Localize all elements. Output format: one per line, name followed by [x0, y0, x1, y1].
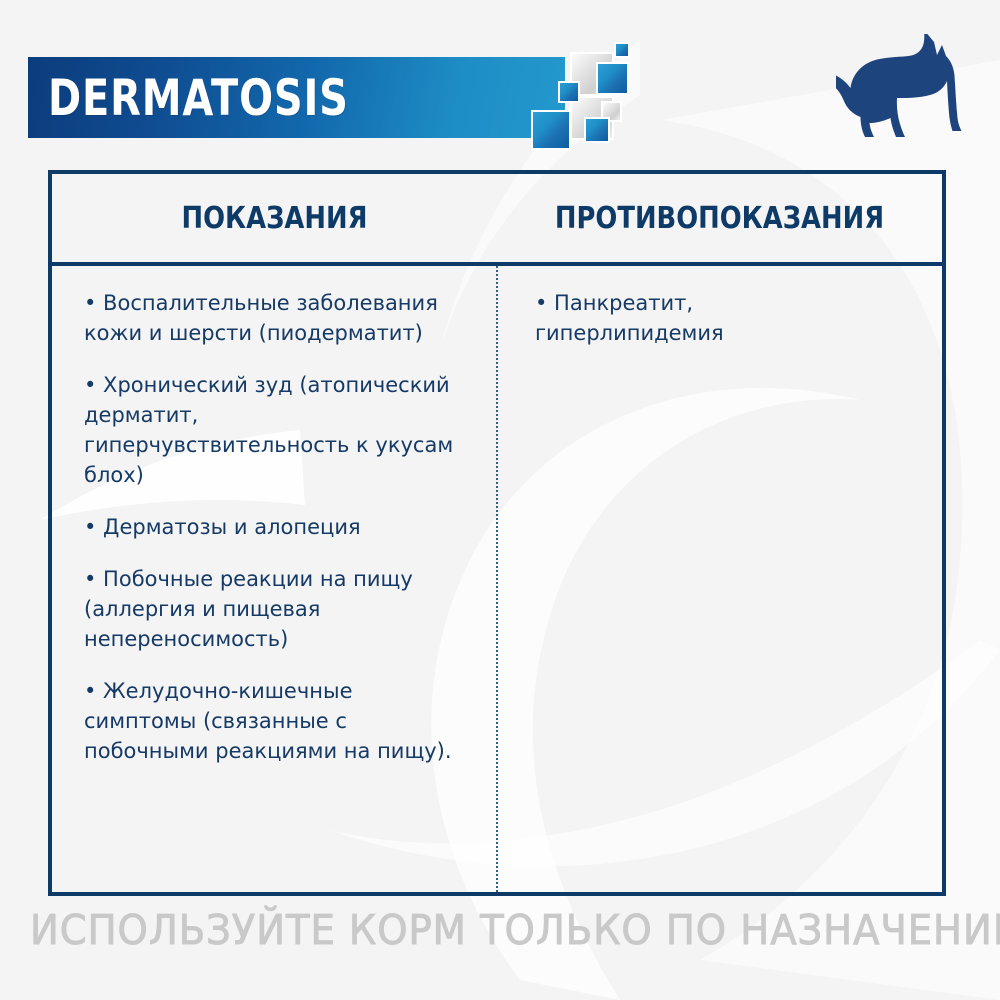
- list-item: • Панкреатит, гиперлипидемия: [535, 288, 835, 348]
- page-title: DERMATOSIS: [48, 60, 448, 136]
- poster-root: DERMATOSIS ПОКАЗАНИЯ ПРОТИВОПОКАЗАНИЯ • …: [0, 0, 1000, 1000]
- column-header-contraindications: ПРОТИВОПОКАЗАНИЯ: [528, 174, 911, 262]
- decor-square-blue-3: [558, 81, 580, 103]
- footer-disclaimer: ИСПОЛЬЗУЙТЕ КОРМ ТОЛЬКО ПО НАЗНАЧЕНИЮ ВР…: [30, 906, 970, 954]
- decor-square-blue-1: [614, 42, 630, 58]
- table-header-row: ПОКАЗАНИЯ ПРОТИВОПОКАЗАНИЯ: [52, 174, 942, 266]
- list-item: • Воспалительные заболевания кожи и шерс…: [84, 288, 465, 348]
- decor-square-blue-4: [531, 110, 571, 150]
- list-item: • Желудочно-кишечные симптомы (связанные…: [84, 676, 465, 766]
- list-item: • Побочные реакции на пищу (аллергия и п…: [84, 564, 465, 654]
- list-item: • Дерматозы и алопеция: [84, 512, 465, 542]
- indications-table: ПОКАЗАНИЯ ПРОТИВОПОКАЗАНИЯ • Воспалитель…: [48, 170, 946, 896]
- table-body: • Воспалительные заболевания кожи и шерс…: [52, 266, 942, 892]
- column-header-indications: ПОКАЗАНИЯ: [83, 174, 466, 262]
- decor-square-blue-2: [596, 62, 629, 95]
- cat-silhouette-logo: [836, 34, 966, 144]
- column-indications: • Воспалительные заболевания кожи и шерс…: [52, 266, 491, 892]
- decor-square-blue-5: [584, 117, 610, 143]
- list-item: • Хронический зуд (атопический дерматит,…: [84, 370, 465, 490]
- column-contraindications: • Панкреатит, гиперлипидемия: [491, 266, 942, 892]
